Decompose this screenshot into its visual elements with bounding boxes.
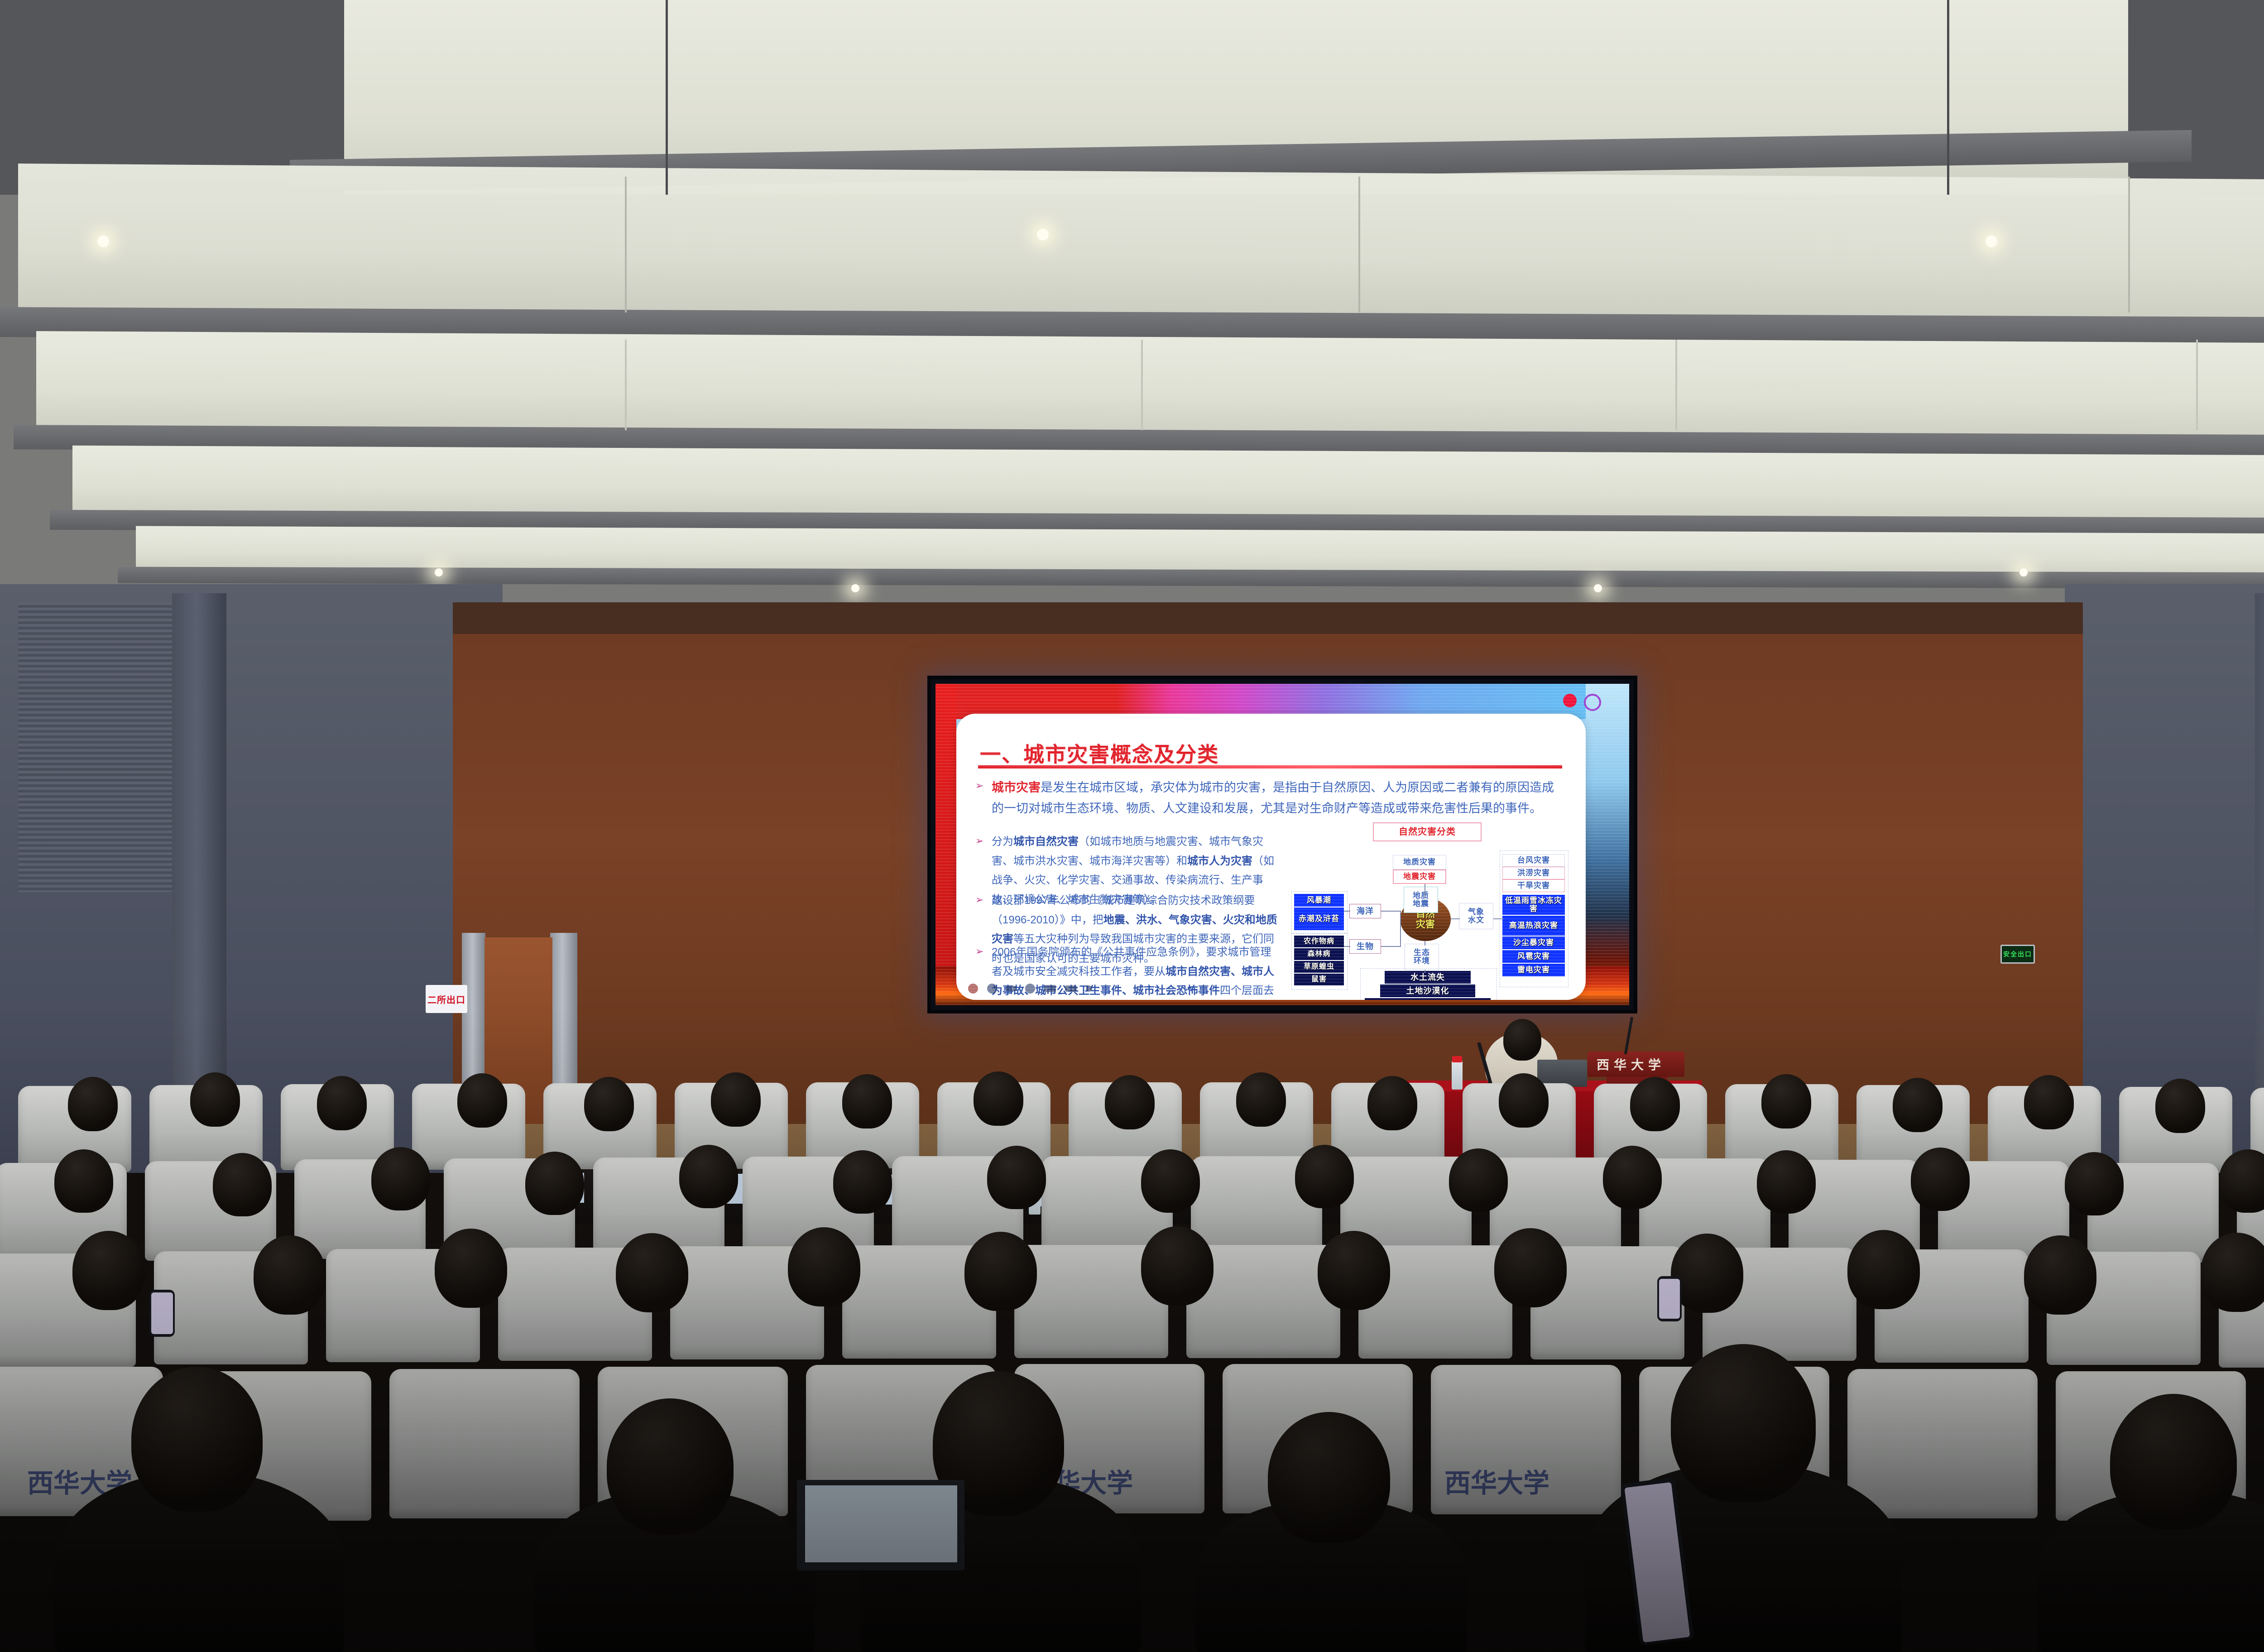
attendee-head [1236,1072,1286,1127]
attendee-head [254,1235,326,1315]
b2-s1: 城市自然灾害 [1013,836,1079,848]
connector [1425,941,1425,946]
attendee-head-foreground [131,1367,263,1512]
attendee-head [974,1071,1023,1126]
attendee-head [1494,1228,1567,1307]
diagram-met-blue-5: 雷电灾害 [1502,964,1565,976]
disaster-classification-diagram: 自然灾害分类 自然 灾害 地质灾害 地震灾害 地质 [1291,822,1572,994]
diagram-geo-item-1: 地质灾害 [1393,855,1446,869]
diagram-bio-label: 生物 [1349,939,1381,954]
menu-icon[interactable] [1065,985,1077,992]
pointer-icon[interactable] [1025,984,1035,994]
attendee-head [1105,1075,1155,1129]
attendee-head [1318,1231,1390,1310]
diagram-bio-item-1: 农作物病 [1294,936,1344,947]
slide-title: 一、城市灾害概念及分类 [980,738,1219,768]
led-presentation-screen[interactable]: 一、城市灾害概念及分类 ➢ 城市灾害是发生在城市区域，承灾体为城市的灾害，是指由… [927,676,1637,1013]
diagram-met-blue-2: 高温热浪灾害 [1502,916,1565,936]
bullet-text-1: 城市灾害是发生在城市区域，承灾体为城市的灾害，是指由于自然原因、人为原因或二者兼… [992,777,1558,819]
ppt-slideshow-toolbar[interactable] [968,984,1092,994]
diagram-eco-item-1: 水土流失 [1385,971,1471,984]
attendee-smartphone-screen [151,1292,173,1334]
connector [1344,911,1350,912]
attendee-head [68,1077,118,1131]
diagram-geo-item-2: 地震灾害 [1393,869,1446,884]
attendee-head [788,1227,860,1306]
attendee-head [1499,1073,1549,1128]
diagram-ocean-label: 海洋 [1349,904,1381,918]
slide-decoration-dot-outline [1584,694,1601,711]
diagram-bio-item-4: 鼠害 [1294,974,1344,985]
diagram-met-blue-3: 沙尘暴灾害 [1502,936,1565,949]
bullet-marker: ➢ [975,894,983,906]
diagram-header: 自然灾害分类 [1373,822,1482,841]
next-arrow-icon[interactable] [987,984,997,994]
wall-shadow-band [453,602,2083,634]
ceiling-spotlight [1037,229,1049,240]
attendee-head [2024,1075,2074,1129]
diagram-ocean-item-1: 风暴潮 [1294,894,1344,907]
attendee-head [213,1153,272,1216]
diagram-eco-item-2: 土地沙漠化 [1380,984,1475,997]
attendee-head-foreground [2110,1394,2237,1530]
attendee-head [525,1152,584,1215]
attendee-head [1630,1077,1680,1131]
seat [389,1369,580,1518]
ceiling-spotlight [851,584,859,592]
connector [1381,946,1401,947]
attendee-head [457,1073,507,1128]
attendee-head [1449,1148,1508,1212]
attendee-head [435,1229,507,1308]
attendee-head [2201,1233,2264,1312]
attendee-head [1295,1145,1354,1208]
b2-s0: 分为 [992,836,1013,848]
ceiling-spotlight [2019,568,2028,576]
prev-arrow-icon[interactable] [968,984,978,994]
attendee-head [2155,1079,2205,1133]
diagram-bio-item-3: 草原蝗虫 [1294,961,1344,973]
attendee-smartphone-screen [1659,1279,1680,1319]
attendee-head [1757,1150,1816,1214]
connector [1451,918,1460,919]
attendee-head [2065,1152,2124,1215]
ceiling [0,0,2264,602]
diagram-eco-label: 生态 环境 [1405,944,1439,970]
attendee-head [1671,1234,1743,1313]
ceiling-spotlight [1594,584,1602,592]
attendee-head [1893,1078,1943,1132]
bullet-1-body: 是发生在城市区域，承灾体为城市的灾害，是指由于自然原因、人为原因或二者兼有的原因… [992,781,1554,815]
diagram-bio-item-2: 森林病 [1294,948,1344,960]
slide-decoration-dot-filled [1563,694,1577,707]
bullet-marker: ➢ [975,835,983,847]
bullet-marker: ➢ [975,780,983,792]
attendee-head [1141,1149,1200,1213]
diagram-met-blue-4: 风雹灾害 [1502,950,1565,963]
diagram-met-outline-1: 台风灾害 [1502,854,1565,867]
attendee-head [1761,1074,1811,1129]
attendee-head [833,1150,892,1214]
attendee-head-foreground [1268,1412,1390,1543]
connector [1425,970,1425,973]
attendee-head [1141,1226,1214,1306]
attendee-head [842,1074,892,1129]
audience-seating: 西华大学 西华大学 西华大学 西华大学 [0,1009,2264,1652]
attendee-head [584,1077,634,1131]
diagram-met-outline-2: 洪涝灾害 [1502,867,1565,879]
attendee-head [1911,1148,1970,1211]
attendee-head [1367,1076,1417,1130]
attendee-head [616,1233,688,1312]
attendee-head [1847,1230,1920,1309]
diagram-geo-label: 地质 地震 [1404,887,1438,913]
ceiling-spotlight [97,235,109,247]
connector [1400,911,1401,947]
attendee-head-foreground [1671,1344,1816,1503]
attendee-head [964,1232,1037,1311]
diagram-ocean-item-2: 赤潮及浒苔 [1294,908,1344,930]
attendee-head [1603,1146,1662,1209]
diagram-met-blue-1: 低温雨雪冰冻灾害 [1502,895,1565,915]
connector [1344,946,1350,947]
attendee-head [317,1076,367,1130]
attendee-head [2024,1235,2096,1315]
wall-vent-left [18,602,172,892]
attendee-head [711,1072,761,1127]
diagram-eco-item-3: 事故引发的生态环境灾害 [1365,998,1491,1000]
lecture-hall-photo: 二所出口 安全出口 一、城市灾害概念及分类 ➢ 城市灾害是发生在城市区域，承灾体… [0,0,2264,1652]
connector [1493,918,1503,919]
diagram-met-label: 气象 水文 [1459,903,1493,929]
attendee-head [54,1149,113,1213]
ceiling-spotlight [1986,235,1997,247]
attendee-head [371,1147,430,1210]
close-icon[interactable] [1086,985,1092,992]
connector [1381,911,1401,912]
attendee-laptop-screen [805,1485,957,1562]
attendee-head [987,1146,1046,1209]
attendee-head [679,1145,738,1208]
seat [1847,1369,2038,1518]
diagram-met-outline-3: 干旱灾害 [1502,879,1565,892]
seat-university-logo: 西华大学 [1444,1462,1549,1500]
bullet-1-keyword: 城市灾害 [992,781,1041,794]
pen-icon[interactable] [1006,986,1016,991]
attendee-head [190,1072,240,1127]
attendee-head-foreground [607,1398,734,1534]
connector [1425,884,1425,898]
slides-icon[interactable] [1044,985,1056,992]
attendee-head [72,1231,145,1310]
exit-sign-green: 安全出口 [2000,945,2035,964]
b2-s3: 城市人为灾害 [1187,855,1252,867]
ceiling-spotlight [435,568,443,576]
presentation-slide: 一、城市灾害概念及分类 ➢ 城市灾害是发生在城市区域，承灾体为城市的灾害，是指由… [956,714,1586,1000]
bullet-marker: ➢ [975,946,983,957]
